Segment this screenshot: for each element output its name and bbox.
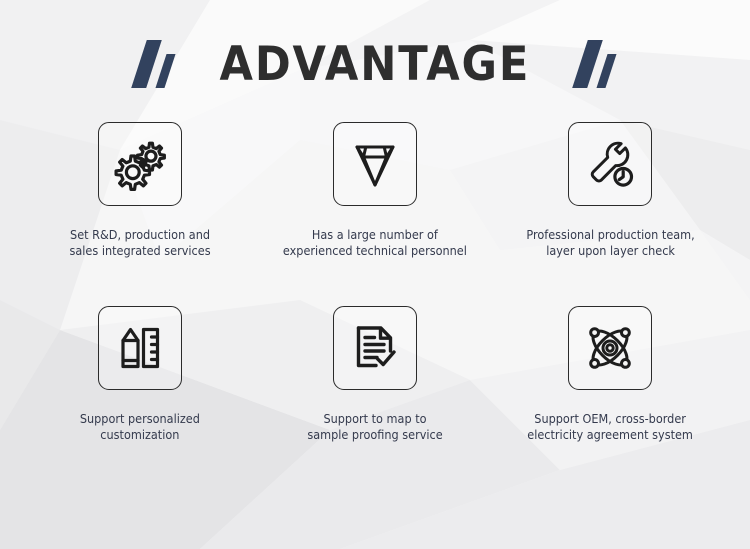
feature-caption: Support OEM, cross-border electricity ag… <box>527 412 693 443</box>
icon-box <box>568 122 652 206</box>
feature-caption: Professional production team, layer upon… <box>526 228 694 259</box>
feature-item: Support personalized customization <box>22 306 257 490</box>
document-check-icon <box>346 319 404 377</box>
section-header: ADVANTAGE <box>0 28 750 100</box>
icon-box <box>98 122 182 206</box>
feature-caption: Has a large number of experienced techni… <box>283 228 467 259</box>
advantage-section: ADVANTAGE Set R&D, production and sales … <box>0 0 750 549</box>
feature-caption: Support personalized customization <box>80 412 200 443</box>
slash-decoration-left-icon <box>139 40 170 88</box>
icon-box <box>333 122 417 206</box>
page-title: ADVANTAGE <box>220 41 531 88</box>
pencil-ruler-icon <box>111 319 169 377</box>
atom-network-icon <box>581 319 639 377</box>
feature-item: Has a large number of experienced techni… <box>257 122 492 306</box>
diamond-icon <box>346 135 404 193</box>
wrench-clock-icon <box>581 135 639 193</box>
icon-box <box>98 306 182 390</box>
slash-small-icon <box>596 54 616 88</box>
feature-grid: Set R&D, production and sales integrated… <box>22 122 728 490</box>
feature-item: Professional production team, layer upon… <box>493 122 728 306</box>
icon-box <box>333 306 417 390</box>
feature-caption: Support to map to sample proofing servic… <box>307 412 442 443</box>
feature-caption: Set R&D, production and sales integrated… <box>69 228 210 259</box>
feature-item: Set R&D, production and sales integrated… <box>22 122 257 306</box>
slash-decoration-right-icon <box>580 40 611 88</box>
feature-item: Support to map to sample proofing servic… <box>257 306 492 490</box>
gears-icon <box>111 135 169 193</box>
feature-item: Support OEM, cross-border electricity ag… <box>493 306 728 490</box>
icon-box <box>568 306 652 390</box>
slash-small-icon <box>156 54 176 88</box>
